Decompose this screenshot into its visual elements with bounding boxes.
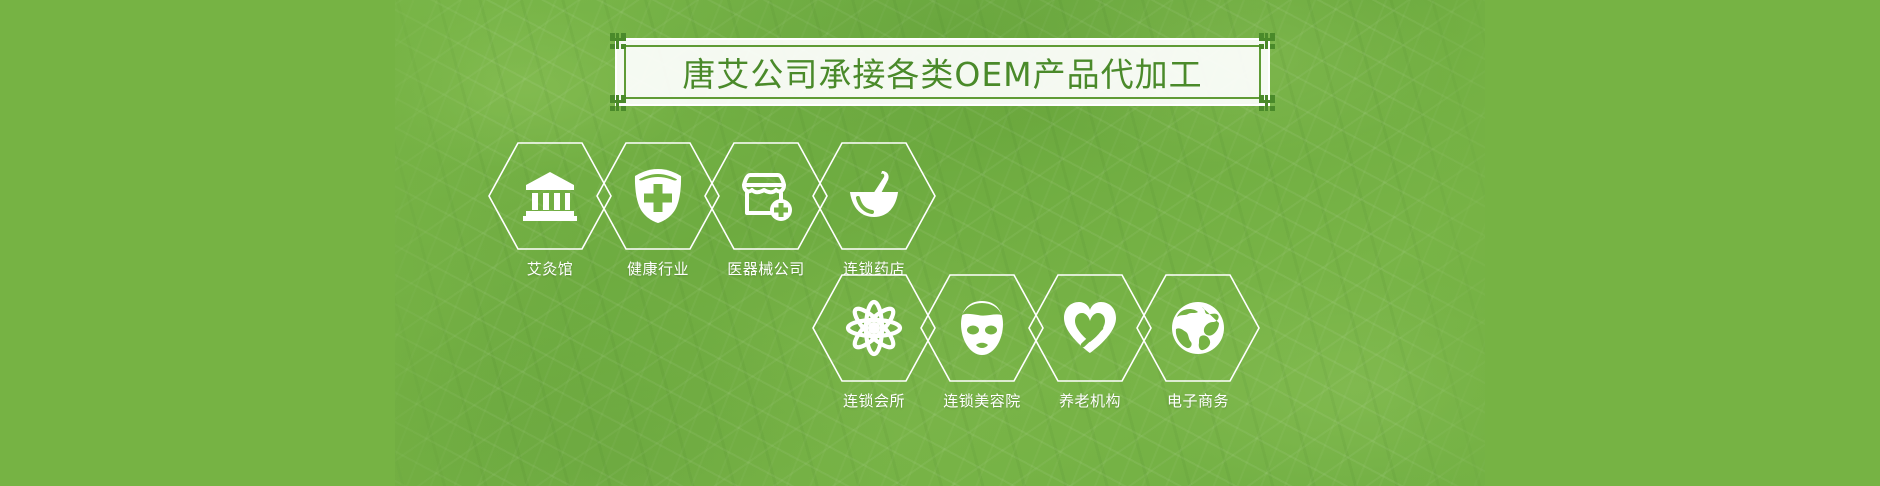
- corner-ornament-bottom-right-icon: [1259, 95, 1275, 111]
- flower-atom-icon: [845, 299, 903, 357]
- category-label: 电子商务: [1134, 390, 1262, 411]
- hexagon-frame-pharmacy: [810, 140, 938, 252]
- corner-ornament-bottom-left-icon: [610, 95, 626, 111]
- corner-ornament-top-right-icon: [1259, 33, 1275, 49]
- corner-ornament-top-left-icon: [610, 33, 626, 49]
- title-plaque: 唐艾公司承接各类OEM产品代加工: [615, 38, 1270, 106]
- shield-plus-icon: [629, 167, 687, 225]
- page-title: 唐艾公司承接各类OEM产品代加工: [615, 38, 1270, 106]
- promo-banner: 唐艾公司承接各类OEM产品代加工: [0, 0, 1880, 486]
- mortar-pestle-icon: [845, 167, 903, 225]
- heart-icon: [1061, 299, 1119, 357]
- store-plus-icon: [737, 167, 795, 225]
- facial-mask-icon: [953, 299, 1011, 357]
- hexagon-frame-ecommerce: [1134, 272, 1262, 384]
- museum-building-icon: [521, 167, 579, 225]
- category-item-ecommerce[interactable]: 电子商务: [1134, 272, 1262, 411]
- category-item-pharmacy[interactable]: 连锁药店: [810, 140, 938, 279]
- globe-icon: [1169, 299, 1227, 357]
